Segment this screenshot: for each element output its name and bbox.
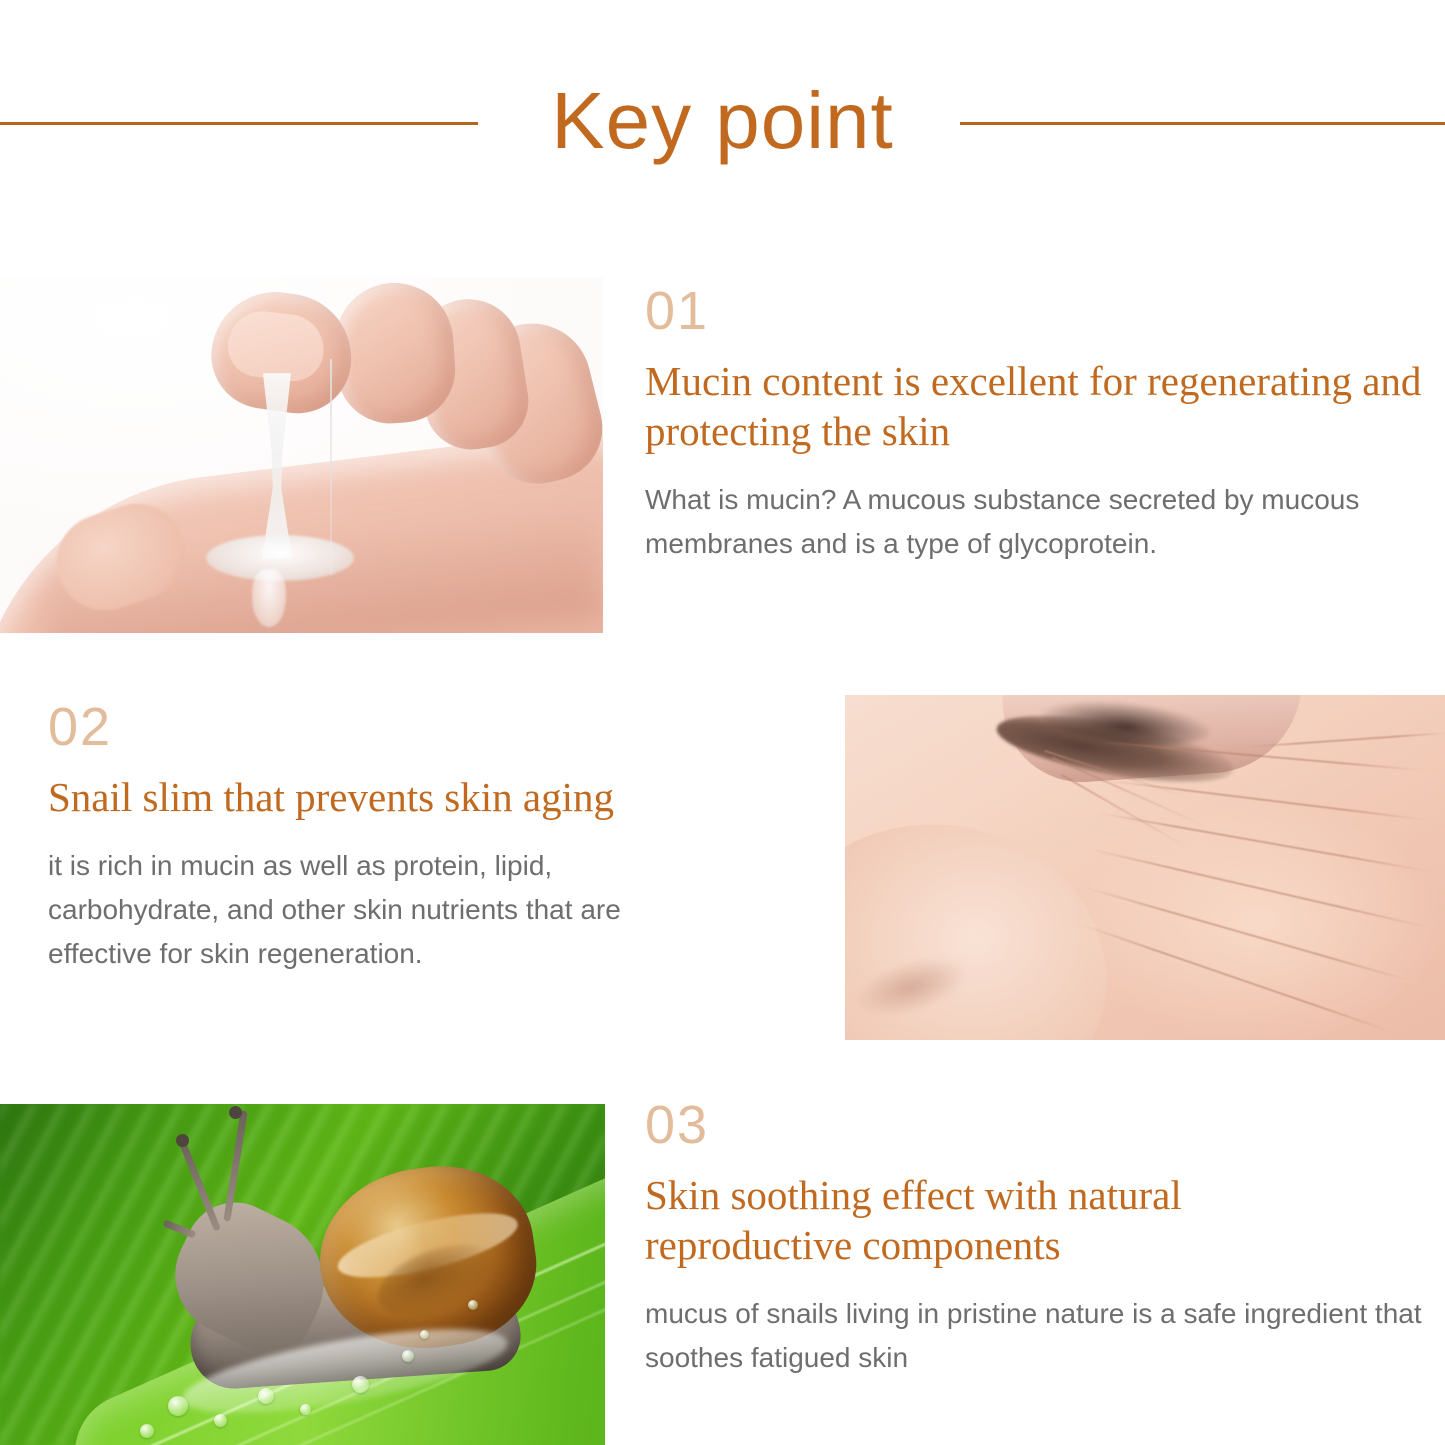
section-body: What is mucin? A mucous substance secret…: [645, 478, 1423, 566]
water-droplet: [168, 1396, 188, 1416]
section-03-text: 03 Skin soothing effect with natural rep…: [645, 1096, 1423, 1380]
water-droplet: [468, 1300, 478, 1310]
section-number: 02: [48, 698, 698, 756]
section-body: mucus of snails living in pristine natur…: [645, 1292, 1423, 1380]
water-droplet: [140, 1424, 154, 1438]
page-header: Key point: [0, 62, 1445, 182]
section-number: 01: [645, 282, 1423, 340]
snail-tentacle-tip: [176, 1134, 189, 1147]
water-droplet: [258, 1388, 274, 1404]
key-point-infographic: Key point 01 Mucin content is excellent …: [0, 0, 1445, 1445]
section-02-text: 02 Snail slim that prevents skin aging i…: [48, 698, 698, 976]
gel-drip: [252, 569, 286, 627]
section-01-text: 01 Mucin content is excellent for regene…: [645, 282, 1423, 566]
section-body: it is rich in mucin as well as protein, …: [48, 844, 698, 976]
water-droplet: [214, 1414, 227, 1427]
water-droplet: [352, 1376, 369, 1393]
section-heading: Snail slim that prevents skin aging: [48, 772, 698, 822]
water-droplet: [402, 1350, 414, 1362]
section-heading: Skin soothing effect with natural reprod…: [645, 1170, 1265, 1270]
section-heading: Mucin content is excellent for regenerat…: [645, 356, 1423, 456]
section-number: 03: [645, 1096, 1423, 1154]
page-title: Key point: [0, 62, 1445, 180]
snail-on-leaf-photo: [0, 1104, 605, 1445]
aging-skin-wrinkles-photo: [845, 695, 1445, 1040]
hand-mucin-gel-photo: [0, 277, 603, 633]
snail-tentacle-tip: [229, 1106, 242, 1119]
water-droplet: [300, 1404, 311, 1415]
water-droplet: [420, 1330, 429, 1339]
